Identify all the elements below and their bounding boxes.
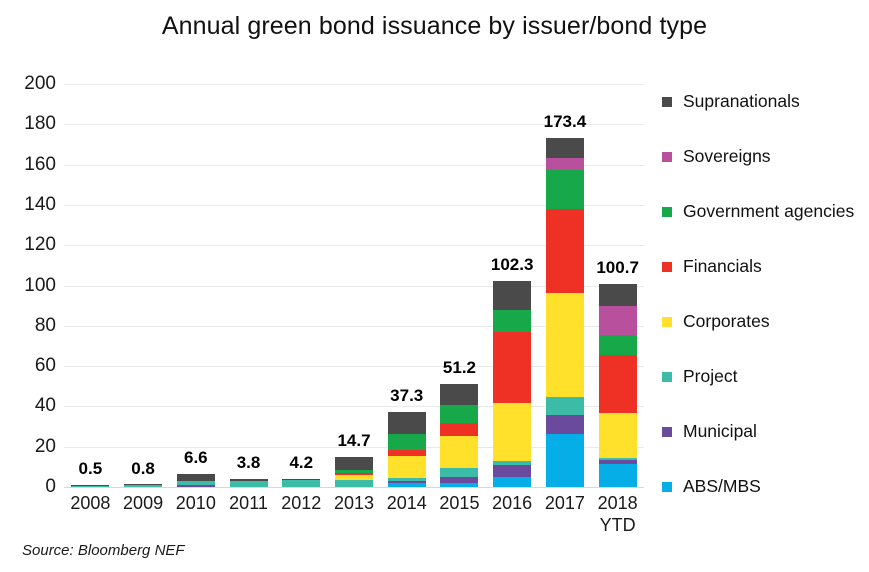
- y-axis-tick-label: 100: [0, 276, 56, 295]
- x-axis-tick-line: 2012: [275, 492, 328, 514]
- chart-canvas: Annual green bond issuance by issuer/bon…: [0, 0, 869, 572]
- legend-item-financials[interactable]: Financials: [662, 239, 869, 294]
- y-axis-tick-label: 40: [0, 396, 56, 415]
- bar-group[interactable]: 0.8: [124, 84, 162, 487]
- legend-label: Supranationals: [683, 91, 800, 112]
- bar-segment-project[interactable]: [546, 397, 584, 415]
- legend-label: Sovereigns: [683, 146, 771, 167]
- legend-item-corporates[interactable]: Corporates: [662, 294, 869, 349]
- stacked-bar[interactable]: [493, 281, 531, 487]
- legend-swatch-icon: [662, 97, 672, 107]
- page-title: Annual green bond issuance by issuer/bon…: [0, 12, 869, 41]
- bar-segment-government-agencies[interactable]: [440, 405, 478, 424]
- bar-value-label: 0.8: [131, 459, 155, 479]
- bar-segment-sovereigns[interactable]: [599, 306, 637, 335]
- bar-segment-abs-mbs[interactable]: [493, 477, 531, 487]
- bar-segment-project[interactable]: [124, 485, 162, 487]
- bar-group[interactable]: 3.8: [230, 84, 268, 487]
- x-axis-tick-line: 2018: [591, 492, 644, 514]
- bar-segment-government-agencies[interactable]: [599, 335, 637, 355]
- y-axis-tick-label: 80: [0, 316, 56, 335]
- x-axis-tick-line: 2015: [433, 492, 486, 514]
- bar-group[interactable]: 100.7: [599, 84, 637, 487]
- bar-segment-financials[interactable]: [546, 209, 584, 293]
- bar-value-label: 102.3: [491, 255, 534, 275]
- bar-value-label: 6.6: [184, 448, 208, 468]
- bar-value-label: 173.4: [544, 112, 587, 132]
- bar-value-label: 4.2: [289, 453, 313, 473]
- legend-item-project[interactable]: Project: [662, 349, 869, 404]
- x-axis-tick-line: 2014: [380, 492, 433, 514]
- bar-segment-supranationals[interactable]: [599, 284, 637, 306]
- stacked-bar[interactable]: [440, 384, 478, 487]
- bar-group[interactable]: 173.4: [546, 84, 584, 487]
- bar-segment-municipal[interactable]: [546, 415, 584, 434]
- bar-segment-supranationals[interactable]: [440, 384, 478, 405]
- bar-value-label: 0.5: [79, 459, 103, 479]
- bar-segment-abs-mbs[interactable]: [388, 483, 426, 487]
- bar-segment-corporates[interactable]: [546, 293, 584, 397]
- bar-segment-abs-mbs[interactable]: [599, 464, 637, 487]
- legend-item-abs-mbs[interactable]: ABS/MBS: [662, 459, 869, 514]
- bar-segment-sovereigns[interactable]: [546, 158, 584, 170]
- y-axis-tick-label: 120: [0, 235, 56, 254]
- x-axis-tick-label: 2015: [433, 492, 486, 514]
- x-axis-tick-line: 2011: [222, 492, 275, 514]
- y-axis-tick-label: 20: [0, 437, 56, 456]
- bar-segment-municipal[interactable]: [493, 465, 531, 477]
- x-axis-tick-line: 2016: [486, 492, 539, 514]
- y-axis-tick-label: 140: [0, 195, 56, 214]
- bar-segment-supranationals[interactable]: [388, 412, 426, 434]
- legend-label: Corporates: [683, 311, 770, 332]
- legend-label: Financials: [683, 256, 762, 277]
- y-axis-tick-label: 200: [0, 74, 56, 93]
- y-axis-tick-label: 180: [0, 114, 56, 133]
- bar-segment-municipal[interactable]: [177, 485, 215, 487]
- bar-segment-project[interactable]: [230, 481, 268, 487]
- gridline: [64, 487, 644, 488]
- legend-swatch-icon: [662, 482, 672, 492]
- x-axis-tick-line: 2017: [539, 492, 592, 514]
- legend-item-supranationals[interactable]: Supranationals: [662, 74, 869, 129]
- x-axis-tick-line: 2013: [328, 492, 381, 514]
- legend-label: Project: [683, 366, 737, 387]
- stacked-bar[interactable]: [599, 284, 637, 487]
- legend-label: Government agencies: [683, 201, 854, 222]
- legend-swatch-icon: [662, 152, 672, 162]
- bar-segment-government-agencies[interactable]: [493, 310, 531, 332]
- bar-value-label: 51.2: [443, 358, 476, 378]
- bar-value-label: 14.7: [337, 431, 370, 451]
- bar-group[interactable]: 37.3: [388, 84, 426, 487]
- legend-swatch-icon: [662, 427, 672, 437]
- bar-value-label: 37.3: [390, 386, 423, 406]
- bar-segment-project[interactable]: [282, 480, 320, 487]
- legend-item-sovereigns[interactable]: Sovereigns: [662, 129, 869, 184]
- stacked-bar[interactable]: [282, 479, 320, 487]
- bar-segment-corporates[interactable]: [493, 403, 531, 461]
- bar-segment-financials[interactable]: [440, 423, 478, 435]
- legend-label: Municipal: [683, 421, 757, 442]
- bar-group[interactable]: 14.7: [335, 84, 373, 487]
- bar-segment-abs-mbs[interactable]: [546, 434, 584, 487]
- x-axis-tick-line: 2009: [117, 492, 170, 514]
- bar-segment-supranationals[interactable]: [335, 457, 373, 469]
- y-axis-tick-label: 0: [0, 477, 56, 496]
- stacked-bar[interactable]: [124, 484, 162, 487]
- bar-segment-project[interactable]: [335, 480, 373, 487]
- bar-group[interactable]: 0.5: [71, 84, 109, 487]
- stacked-bar[interactable]: [230, 479, 268, 487]
- stacked-bar[interactable]: [546, 138, 584, 487]
- bar-segment-corporates[interactable]: [599, 413, 637, 458]
- stacked-bar[interactable]: [71, 485, 109, 487]
- bar-segment-abs-mbs[interactable]: [440, 483, 478, 487]
- bar-value-label: 100.7: [596, 258, 639, 278]
- stacked-bar[interactable]: [177, 474, 215, 487]
- legend-swatch-icon: [662, 317, 672, 327]
- bar-segment-corporates[interactable]: [440, 436, 478, 468]
- stacked-bar[interactable]: [388, 412, 426, 487]
- x-axis-tick-label: 2009: [117, 492, 170, 514]
- legend-swatch-icon: [662, 372, 672, 382]
- bar-group[interactable]: 102.3: [493, 84, 531, 487]
- legend-label: ABS/MBS: [683, 476, 761, 497]
- x-axis-tick-label: 2017: [539, 492, 592, 514]
- bar-group[interactable]: 4.2: [282, 84, 320, 487]
- legend: SupranationalsSovereignsGovernment agenc…: [662, 74, 869, 514]
- x-axis-tick-label: 2016: [486, 492, 539, 514]
- x-axis-tick-label: 2014: [380, 492, 433, 514]
- bar-segment-government-agencies[interactable]: [546, 170, 584, 208]
- x-axis-tick-label: 2011: [222, 492, 275, 514]
- x-axis-tick-label: 2018YTD: [591, 492, 644, 536]
- bar-segment-government-agencies[interactable]: [388, 434, 426, 450]
- x-axis-tick-label: 2013: [328, 492, 381, 514]
- x-axis-tick-line: YTD: [591, 514, 644, 536]
- x-axis-tick-line: 2010: [169, 492, 222, 514]
- bar-segment-corporates[interactable]: [388, 456, 426, 478]
- bar-segment-project[interactable]: [71, 486, 109, 487]
- legend-swatch-icon: [662, 262, 672, 272]
- bar-segment-project[interactable]: [440, 468, 478, 477]
- bar-segment-supranationals[interactable]: [546, 138, 584, 158]
- bar-segment-financials[interactable]: [599, 355, 637, 413]
- y-axis: 200180160140120100806040200: [0, 84, 56, 487]
- x-axis-tick-line: 2008: [64, 492, 117, 514]
- bar-value-label: 3.8: [237, 453, 261, 473]
- bar-group[interactable]: 51.2: [440, 84, 478, 487]
- bar-group[interactable]: 6.6: [177, 84, 215, 487]
- bar-segment-supranationals[interactable]: [493, 281, 531, 310]
- y-axis-tick-label: 60: [0, 356, 56, 375]
- legend-item-municipal[interactable]: Municipal: [662, 404, 869, 459]
- source-note: Source: Bloomberg NEF: [22, 542, 185, 559]
- x-axis-tick-label: 2008: [64, 492, 117, 514]
- bar-segment-financials[interactable]: [493, 332, 531, 403]
- bar-series-container: 0.50.86.63.84.214.737.351.2102.3173.4100…: [64, 84, 644, 487]
- x-axis-tick-label: 2012: [275, 492, 328, 514]
- legend-item-government-agencies[interactable]: Government agencies: [662, 184, 869, 239]
- x-axis-tick-label: 2010: [169, 492, 222, 514]
- legend-swatch-icon: [662, 207, 672, 217]
- stacked-bar[interactable]: [335, 457, 373, 487]
- y-axis-tick-label: 160: [0, 155, 56, 174]
- bar-segment-supranationals[interactable]: [177, 474, 215, 481]
